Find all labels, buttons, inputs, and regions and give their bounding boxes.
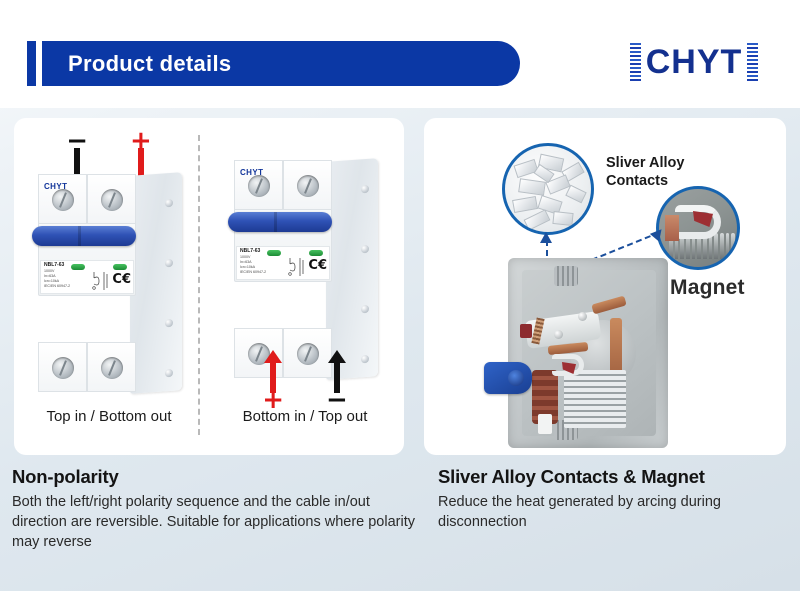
- mcb-front-face: CHYT NBL7-63 1000V In=63A Icn=10kA IEC/E…: [38, 174, 136, 392]
- logo-text: CHYT: [646, 45, 743, 79]
- indicator-led-left: [71, 264, 85, 270]
- schematic-diagram-icon-b: [287, 255, 307, 279]
- terminal-bottom-right: [87, 342, 136, 392]
- mcb-toggle-lever-b[interactable]: [228, 212, 332, 232]
- mcb-specs-text-b: 1000V In=63A Icn=10kA IEC/EN 60947-2: [240, 255, 266, 275]
- schematic-diagram-icon: [91, 269, 111, 293]
- indicator-led-left-b: [267, 250, 281, 256]
- breaker-a-caption: Top in / Bottom out: [16, 408, 202, 425]
- right-caption-block: Sliver Alloy Contacts & Magnet Reduce th…: [438, 466, 790, 532]
- terminal-bottom-left: [38, 342, 87, 392]
- page-title: Product details: [68, 51, 231, 77]
- mcb-specs-text: 1000V In=63A Icn=10kA IEC/EN 60947-2: [44, 269, 70, 289]
- mcb-brand-label-b: CHYT: [240, 168, 263, 177]
- cutaway-figure: Sliver Alloy Contacts Magnet: [424, 118, 786, 455]
- product-details-page: Product details CHYT − +: [0, 0, 800, 591]
- mcb-brand-label: CHYT: [44, 182, 67, 191]
- magnet-callout-label: Magnet: [670, 276, 745, 300]
- mcb-model-text-b: NBL7-63: [240, 248, 260, 254]
- positive-up-arrow-icon: +: [262, 350, 284, 407]
- right-caption-title: Sliver Alloy Contacts & Magnet: [438, 466, 790, 488]
- panel-divider: [198, 135, 200, 435]
- cutaway-blue-handle: [484, 362, 532, 394]
- breaker-b-caption: Bottom in / Top out: [212, 408, 398, 425]
- right-caption-body: Reduce the heat generated by arcing duri…: [438, 492, 790, 532]
- mcb-side-profile: [130, 172, 182, 394]
- breaker-figure-top-in: − + CHYT: [16, 118, 202, 455]
- silver-alloy-contacts-detail-circle: [502, 143, 594, 235]
- cutaway-arc-chute: [564, 370, 626, 428]
- header-banner: Product details: [42, 41, 520, 86]
- mcb-side-profile-b: [326, 158, 378, 380]
- minus-sign-b: −: [326, 393, 348, 407]
- logo-bars-right-icon: [747, 43, 758, 81]
- left-caption-block: Non-polarity Both the left/right polarit…: [12, 466, 416, 552]
- contacts-callout-label: Sliver Alloy Contacts: [606, 154, 684, 190]
- terminal-top-right: [87, 174, 136, 224]
- cutaway-red-component: [520, 324, 532, 338]
- ce-mark-icon-b: C€: [308, 259, 327, 272]
- breaker-figure-bottom-in: CHYT NBL7-63 1000V In=63A Icn=10kA IEC/E…: [212, 118, 398, 455]
- logo-bars-left-icon: [630, 43, 641, 81]
- plus-sign-a: +: [130, 134, 152, 148]
- ce-mark-icon: C€: [112, 273, 131, 286]
- polarity-arrows-bottom: + −: [212, 350, 398, 407]
- terminal-top-right-b: [283, 160, 332, 210]
- mcb-rating-label: NBL7-63 1000V In=63A Icn=10kA IEC/EN 609…: [40, 260, 134, 294]
- left-caption-body: Both the left/right polarity sequence an…: [12, 492, 416, 552]
- indicator-led-right: [113, 264, 127, 270]
- negative-up-arrow-icon: −: [326, 350, 348, 407]
- mcb-toggle-lever[interactable]: [32, 226, 136, 246]
- header-accent-bar: [27, 41, 36, 86]
- brand-logo: CHYT: [604, 33, 784, 91]
- mcb-rating-label-b: NBL7-63 1000V In=63A Icn=10kA IEC/EN 609…: [236, 246, 330, 280]
- mcb-model-text: NBL7-63: [44, 262, 64, 268]
- breaker-cutaway-device: [508, 258, 668, 448]
- cutaway-trip-coil: [532, 370, 558, 424]
- page-header: Product details CHYT: [0, 0, 800, 108]
- cutaway-top-terminal: [554, 266, 578, 286]
- mcb-front-face-b: CHYT NBL7-63 1000V In=63A Icn=10kA IEC/E…: [234, 160, 332, 378]
- indicator-led-right-b: [309, 250, 323, 256]
- contacts-leader-arrow-icon: [540, 232, 552, 243]
- cutaway-magnet-assembly: [552, 354, 584, 376]
- magnet-detail-circle: [656, 186, 740, 270]
- plus-sign-b: +: [262, 393, 284, 407]
- minus-sign-a: −: [66, 134, 88, 148]
- magnet-copper-contact: [665, 215, 679, 241]
- left-caption-title: Non-polarity: [12, 466, 416, 488]
